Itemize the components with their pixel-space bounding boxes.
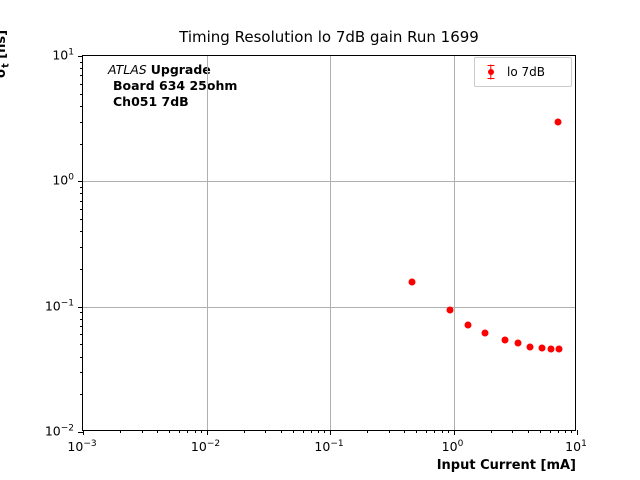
y-tick-label: 10−1 [24,298,74,313]
y-tick-label: 10−2 [24,424,74,439]
data-point [446,307,453,314]
y-axis-label: σt [ns] [0,30,9,78]
x-tick-minor [244,430,245,433]
y-tick-minor [80,344,83,345]
data-point [482,329,489,336]
y-tick-minor [80,106,83,107]
y-tick-minor [80,326,83,327]
data-point [527,343,534,350]
atlas-label: ATLAS [108,62,147,77]
y-tick-label: 100 [24,173,74,188]
grid-line-vertical [454,56,455,430]
x-tick-label: 100 [442,439,464,454]
y-tick-major [78,432,83,433]
x-tick-minor [303,430,304,433]
y-tick-minor [80,269,83,270]
y-tick-minor [80,193,83,194]
y-tick-minor [80,187,83,188]
y-tick-minor [80,219,83,220]
y-tick-minor [80,94,83,95]
grid-line-horizontal [83,181,575,182]
x-tick-minor [389,430,390,433]
x-tick-label: 10−1 [314,439,343,454]
annotation-block: ATLAS Upgrade Board 634 25ohm Ch051 7dB [108,62,237,110]
annotation-line-1: ATLAS Upgrade [108,62,237,78]
page-title: Timing Resolution lo 7dB gain Run 1699 [82,27,576,47]
x-tick-label: 10−3 [67,439,96,454]
y-tick-major [78,181,83,182]
data-point [408,279,415,286]
y-tick-minor [80,394,83,395]
annotation-line-3: Ch051 7dB [108,94,237,110]
x-tick-minor [318,430,319,433]
x-tick-minor [179,430,180,433]
y-tick-minor [80,372,83,373]
annotation-line-2: Board 634 25ohm [108,78,237,94]
x-tick-major [454,430,455,435]
y-tick-minor [80,231,83,232]
y-axis-label-unit: [ns] [0,30,9,63]
data-point [556,345,563,352]
x-tick-minor [324,430,325,433]
x-tick-minor [512,430,513,433]
y-tick-minor [80,319,83,320]
data-point [501,337,508,344]
y-tick-label: 101 [24,48,74,63]
x-tick-minor [187,430,188,433]
grid-line-vertical [207,56,208,430]
y-tick-minor [80,357,83,358]
x-tick-major [207,430,208,435]
y-tick-minor [80,75,83,76]
x-tick-minor [265,430,266,433]
x-tick-minor [442,430,443,433]
data-point [514,340,521,347]
x-tick-minor [416,430,417,433]
x-tick-minor [367,430,368,433]
x-tick-major [83,430,84,435]
y-tick-minor [80,144,83,145]
y-tick-minor [80,122,83,123]
y-tick-minor [80,209,83,210]
x-tick-minor [528,430,529,433]
data-point [538,344,545,351]
y-tick-minor [80,334,83,335]
figure-canvas: Timing Resolution lo 7dB gain Run 1699 σ… [0,0,640,480]
y-tick-minor [80,84,83,85]
x-tick-minor [404,430,405,433]
x-tick-minor [142,430,143,433]
grid-line-vertical [330,56,331,430]
x-tick-minor [565,430,566,433]
x-tick-major [330,430,331,435]
data-point [554,119,561,126]
x-tick-minor [491,430,492,433]
x-tick-minor [169,430,170,433]
y-tick-minor [80,201,83,202]
legend-label: lo 7dB [507,65,545,79]
x-tick-minor [540,430,541,433]
x-tick-minor [157,430,158,433]
x-tick-minor [120,430,121,433]
x-tick-minor [311,430,312,433]
grid-line-horizontal [83,307,575,308]
y-axis-label-sigma: σ [0,68,9,78]
data-point [548,345,555,352]
x-tick-minor [571,430,572,433]
upgrade-label: Upgrade [151,62,211,77]
x-tick-major [577,430,578,435]
x-tick-minor [426,430,427,433]
legend[interactable]: lo 7dB [474,57,572,87]
y-axis-label-subscript: t [1,63,12,68]
y-tick-minor [80,312,83,313]
x-tick-minor [558,430,559,433]
x-tick-minor [448,430,449,433]
y-tick-major [78,56,83,57]
x-tick-label: 10−2 [191,439,220,454]
legend-marker-icon [475,62,507,82]
y-tick-minor [80,62,83,63]
x-tick-minor [434,430,435,433]
y-tick-minor [80,68,83,69]
x-tick-minor [201,430,202,433]
x-axis-label: Input Current [mA] [0,458,576,473]
plot-area: ATLAS Upgrade Board 634 25ohm Ch051 7dB … [82,55,576,431]
y-tick-minor [80,247,83,248]
x-tick-minor [281,430,282,433]
x-tick-minor [550,430,551,433]
x-tick-label: 101 [565,439,587,454]
x-tick-minor [195,430,196,433]
y-tick-major [78,307,83,308]
data-point [465,322,472,329]
x-tick-minor [293,430,294,433]
